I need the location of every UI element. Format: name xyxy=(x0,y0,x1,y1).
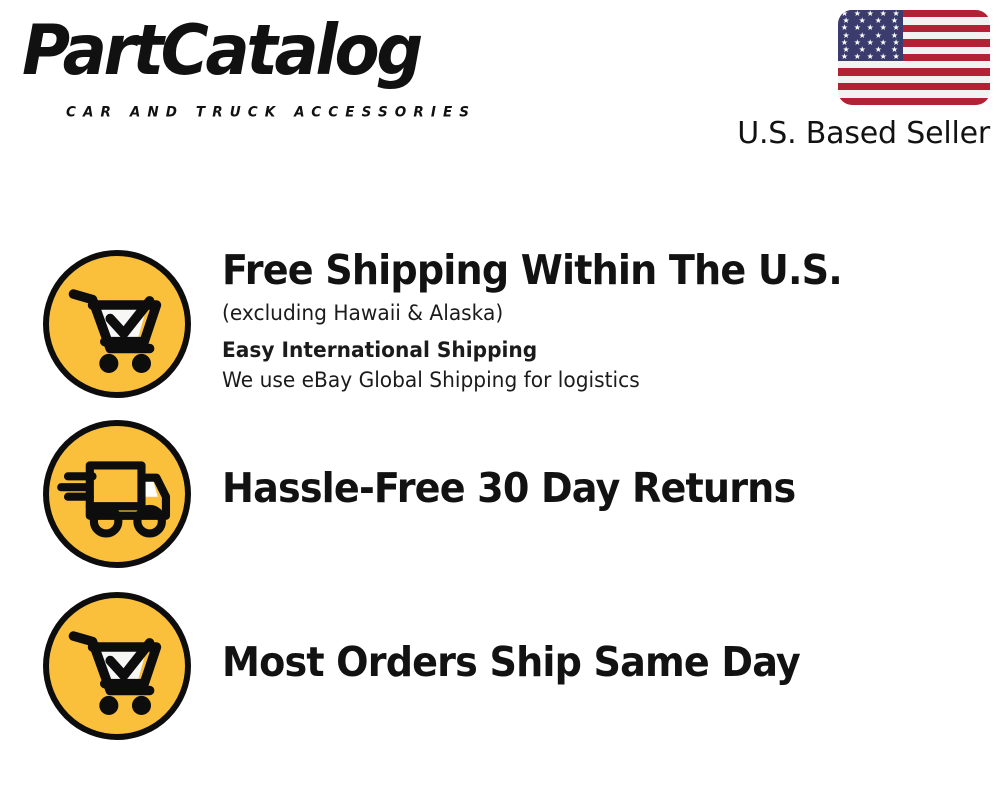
feature-title: Free Shipping Within The U.S. xyxy=(222,248,910,292)
promo-banner: PartCatalog CAR AND TRUCK ACCESSORIES ★★… xyxy=(0,0,1000,800)
brand-wordmark: PartCatalog xyxy=(22,16,420,85)
shopping-cart-check-icon xyxy=(43,592,191,740)
feature-text-block: Hassle-Free 30 Day Returns xyxy=(222,466,962,510)
feature-row: Most Orders Ship Same Day xyxy=(0,590,1000,745)
flag-canton: ★★★★★ ★★★★ ★★★★★ ★★★★ ★★★★★ ★★★★ xyxy=(838,10,903,61)
brand-tagline: CAR AND TRUCK ACCESSORIES xyxy=(66,104,476,121)
feature-title: Hassle-Free 30 Day Returns xyxy=(222,466,910,510)
feature-subtext: We use eBay Global Shipping for logistic… xyxy=(222,366,932,396)
feature-subtext: (excluding Hawaii & Alaska) xyxy=(222,299,932,329)
feature-text-block: Free Shipping Within The U.S. (excluding… xyxy=(222,248,962,396)
delivery-truck-icon xyxy=(43,420,191,568)
feature-text-block: Most Orders Ship Same Day xyxy=(222,640,962,684)
feature-title: Most Orders Ship Same Day xyxy=(222,640,910,684)
feature-subtext-bold: Easy International Shipping xyxy=(222,336,932,366)
feature-row: Hassle-Free 30 Day Returns xyxy=(0,418,1000,573)
us-flag-icon: ★★★★★ ★★★★ ★★★★★ ★★★★ ★★★★★ ★★★★ xyxy=(838,10,990,105)
brand-logo: PartCatalog CAR AND TRUCK ACCESSORIES xyxy=(22,20,492,115)
us-based-seller-badge: ★★★★★ ★★★★ ★★★★★ ★★★★ ★★★★★ ★★★★ xyxy=(720,10,990,151)
shopping-cart-check-icon xyxy=(43,250,191,398)
feature-row: Free Shipping Within The U.S. (excluding… xyxy=(0,248,1000,403)
seller-label: U.S. Based Seller xyxy=(720,116,990,151)
